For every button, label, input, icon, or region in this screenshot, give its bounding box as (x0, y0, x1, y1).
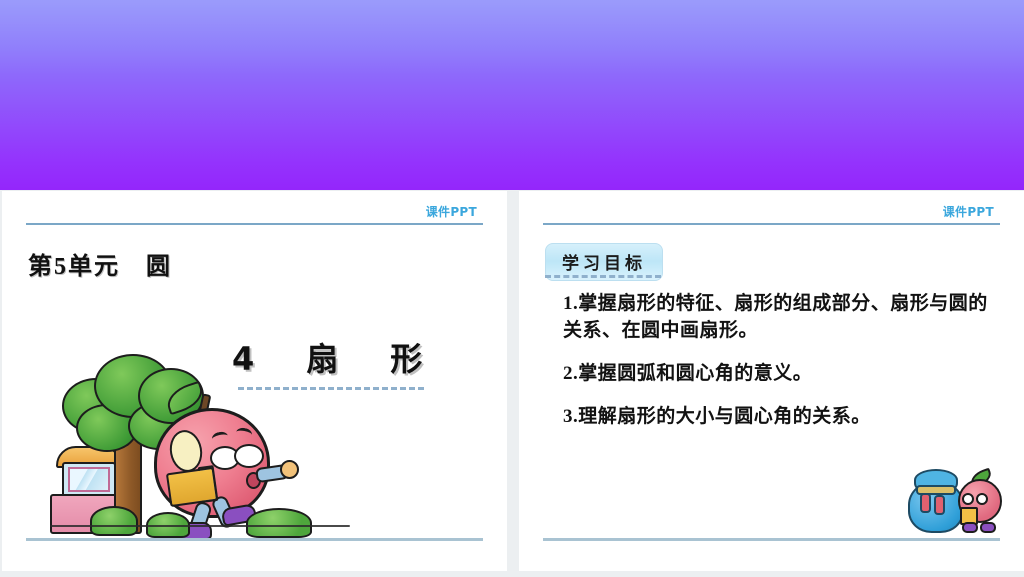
sack-tassel-icon (920, 493, 931, 513)
header-rule-icon (26, 223, 483, 225)
mini-apple-shoe-icon (962, 522, 978, 533)
mini-apple-eye-icon (962, 493, 974, 505)
book-icon (166, 467, 218, 507)
mascot-illustration (908, 467, 1004, 533)
slide-objectives[interactable]: 课件PPT 学习目标 1.掌握扇形的特征、扇形的组成部分、扇形与圆的关系、在圆中… (519, 191, 1024, 571)
mini-apple-eye-icon (976, 493, 988, 505)
footer-rule-left (26, 538, 483, 541)
objective-item: 3.理解扇形的大小与圆心角的关系。 (563, 404, 1006, 431)
apple-tree-illustration (50, 346, 370, 541)
slide-viewer: 课件PPT 第5单元 圆 4 扇 形 (0, 0, 1024, 577)
watermark-label-left: 课件PPT (426, 203, 477, 220)
apple-eye-icon (234, 444, 264, 468)
apple-hand-icon (280, 460, 299, 479)
header-rule-icon (543, 223, 1000, 225)
sack-tassel-icon (934, 495, 945, 515)
watermark-label-right: 课件PPT (943, 203, 994, 220)
objective-item: 2.掌握圆弧和圆心角的意义。 (563, 361, 1006, 388)
bush-icon (246, 508, 312, 538)
banner-sheen (0, 0, 1024, 76)
unit-title: 第5单元 圆 (28, 246, 172, 281)
badge-dashed-underline (545, 275, 661, 278)
ground-line-icon (50, 525, 350, 527)
slide-header-right: 课件PPT (543, 223, 1000, 224)
slide-title[interactable]: 课件PPT 第5单元 圆 4 扇 形 (2, 191, 507, 571)
objective-item: 1.掌握扇形的特征、扇形的组成部分、扇形与圆的关系、在圆中画扇形。 (563, 291, 1006, 345)
house-window-icon (68, 467, 110, 492)
footer-rule-right (543, 538, 1000, 541)
bush-icon (90, 506, 138, 536)
slide-header-left: 课件PPT (26, 223, 483, 224)
mini-apple-shoe-icon (980, 522, 996, 533)
top-gradient-banner (0, 0, 1024, 190)
objectives-list: 1.掌握扇形的特征、扇形的组成部分、扇形与圆的关系、在圆中画扇形。 2.掌握圆弧… (563, 291, 1006, 431)
